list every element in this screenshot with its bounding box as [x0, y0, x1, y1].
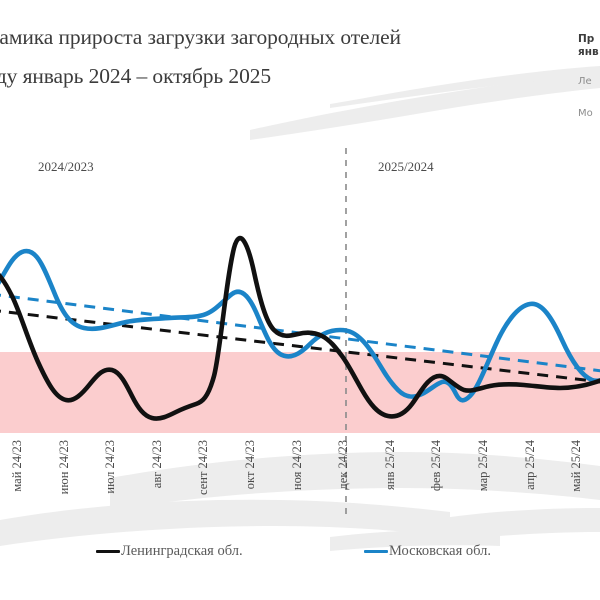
- legend-swatch-leningrad: [96, 550, 120, 554]
- side-panel: Пр янв Ле Мо: [578, 33, 600, 119]
- chart-legend: Ленинградская обл. Московская обл.: [0, 543, 600, 567]
- legend-label-leningrad: Ленинградская обл.: [121, 543, 243, 560]
- chart-title-block: Динамика прироста загрузки загородных от…: [0, 22, 562, 91]
- side-panel-title: Пр янв: [578, 33, 600, 59]
- legend-swatch-moscow: [364, 550, 388, 554]
- period-label-right: 2025/2024: [378, 159, 434, 175]
- chart-subtitle-line-2: к году январь 2024 – октябрь 2025: [0, 61, 562, 91]
- period-label-left: 2024/2023: [38, 159, 94, 175]
- chart-title-line-1: Динамика прироста загрузки загородных от…: [0, 22, 562, 52]
- negative-value-band: [0, 352, 600, 433]
- side-panel-title-line-1: Пр: [578, 33, 594, 45]
- legend-item-moscow[interactable]: Московская обл.: [364, 543, 491, 560]
- legend-label-moscow: Московская обл.: [389, 543, 491, 560]
- legend-item-leningrad[interactable]: Ленинградская обл.: [96, 543, 243, 560]
- side-panel-legend-moscow: Мо: [578, 108, 600, 119]
- side-panel-title-line-2: янв: [578, 46, 599, 58]
- side-panel-legend-leningrad: Ле: [578, 76, 600, 87]
